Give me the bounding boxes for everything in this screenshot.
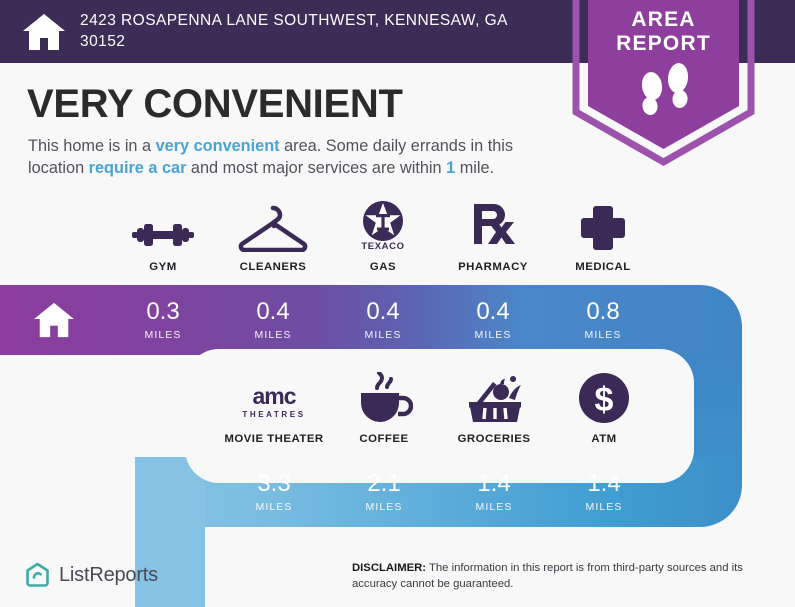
summary-part-1: This home is in a [28,137,156,155]
distance-value: 3.3 [257,472,290,496]
amc-icon: amc THEATRES [236,372,312,424]
distance-value: 0.4 [256,300,289,324]
distance-unit: MILES [144,329,181,341]
distance-unit: MILES [254,329,291,341]
distance-unit: MILES [584,329,621,341]
dumbbell-icon [132,200,194,252]
property-address: 2423 ROSAPENNA LANE SOUTHWEST, KENNESAW,… [80,11,550,52]
summary-part-3: and most major services are within [186,159,446,177]
distance-unit: MILES [475,501,512,513]
amc-subwordmark: THEATRES [242,410,305,419]
distance-cell: 0.4 MILES [328,285,438,355]
distance-unit: MILES [255,501,292,513]
category-label: PHARMACY [458,261,528,273]
disclaimer-label: DISCLAIMER: [352,562,426,574]
category-label: GAS [370,261,396,273]
category-label: GROCERIES [458,433,531,445]
distance-value: 1.4 [587,472,620,496]
badge-label: AREA REPORT [566,8,761,57]
category-pharmacy: PHARMACY [438,200,548,273]
category-groceries: GROCERIES [439,372,549,445]
distance-value: 0.4 [366,300,399,324]
summary-highlight-1: very convenient [156,137,280,155]
basket-icon [463,372,525,424]
badge-line-2: REPORT [566,32,761,56]
area-report-page: 2423 ROSAPENNA LANE SOUTHWEST, KENNESAW,… [0,0,795,607]
disclaimer: DISCLAIMER: The information in this repo… [352,561,784,592]
summary-text: This home is in a very convenient area. … [28,136,568,179]
category-atm: $ ATM [549,372,659,445]
category-gym: GYM [108,200,218,273]
page-title: VERY CONVENIENT [27,82,403,127]
distance-value: 1.4 [477,472,510,496]
distance-value: 0.8 [586,300,619,324]
category-gas: TEXACO GAS [328,200,438,273]
category-label: ATM [591,433,616,445]
distance-cell: 0.4 MILES [218,285,328,355]
distance-cell: 3.3 MILES [219,457,329,527]
distance-cell: 1.4 MILES [549,457,659,527]
atm-icon: $ [578,372,630,424]
coffee-icon [355,372,413,424]
logo-text: ListReports [59,564,158,587]
hanger-icon [237,200,309,252]
home-origin-cell [0,285,108,355]
distance-value: 2.1 [367,472,400,496]
distance-unit: MILES [365,501,402,513]
distance-unit: MILES [474,329,511,341]
home-icon [33,301,75,339]
area-report-badge: AREA REPORT [566,0,761,166]
summary-part-4: mile. [455,159,494,177]
home-icon [22,12,66,52]
listreports-logo[interactable]: ListReports [25,562,158,588]
category-icon-row-bottom: amc THEATRES MOVIE THEATER COFFEE [219,372,659,445]
svg-text:$: $ [595,381,614,419]
category-label: CLEANERS [240,261,307,273]
distance-value: 0.3 [146,300,179,324]
distance-cell: 2.1 MILES [329,457,439,527]
distance-cell: 0.8 MILES [548,285,658,355]
distance-cell: 1.4 MILES [439,457,549,527]
cross-icon [579,200,627,252]
distance-row-top: 0.3 MILES 0.4 MILES 0.4 MILES 0.4 MILES … [108,285,658,355]
texaco-wordmark: TEXACO [361,241,404,252]
distance-cell: 0.3 MILES [108,285,218,355]
distance-unit: MILES [364,329,401,341]
listreports-house-icon [25,562,50,588]
category-movie-theater: amc THEATRES MOVIE THEATER [219,372,329,445]
category-label: COFFEE [359,433,408,445]
texaco-icon: TEXACO [356,200,410,252]
summary-highlight-2: require a car [89,159,187,177]
distance-value: 0.4 [476,300,509,324]
distance-unit: MILES [585,501,622,513]
category-label: MEDICAL [575,261,630,273]
summary-highlight-3: 1 [446,159,455,177]
category-cleaners: CLEANERS [218,200,328,273]
distance-cell: 0.4 MILES [438,285,548,355]
amc-wordmark: amc [252,383,296,409]
rx-icon [468,200,518,252]
category-label: GYM [149,261,176,273]
badge-line-1: AREA [566,8,761,32]
category-medical: MEDICAL [548,200,658,273]
distance-row-bottom: 3.3 MILES 2.1 MILES 1.4 MILES 1.4 MILES [219,457,659,527]
category-coffee: COFFEE [329,372,439,445]
category-icon-row-top: GYM CLEANERS TEXACO [108,200,658,273]
category-label: MOVIE THEATER [224,433,323,445]
